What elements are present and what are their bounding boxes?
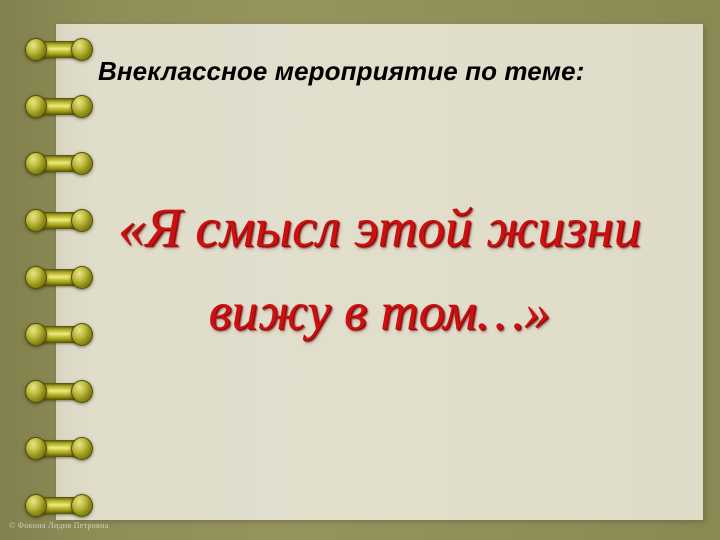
spiral-ring-6 <box>25 323 93 346</box>
spiral-ring-1 <box>25 38 93 61</box>
ring-cap-left-icon <box>25 380 47 403</box>
ring-cap-left-icon <box>25 209 47 232</box>
ring-cap-right-icon <box>71 380 93 403</box>
copyright-credit: © Фокина Лидия Петровна <box>9 521 109 531</box>
ring-cap-left-icon <box>25 437 47 460</box>
ring-cap-right-icon <box>71 209 93 232</box>
spiral-ring-3 <box>25 152 93 175</box>
spiral-ring-5 <box>25 266 93 289</box>
ring-cap-right-icon <box>71 494 93 517</box>
ring-cap-right-icon <box>71 323 93 346</box>
spiral-ring-8 <box>25 437 93 460</box>
spiral-ring-7 <box>25 380 93 403</box>
spiral-ring-4 <box>25 209 93 232</box>
spiral-ring-2 <box>25 95 93 118</box>
slide-quote: «Я смысл этой жизни вижу в том…» <box>56 186 703 354</box>
ring-cap-right-icon <box>71 95 93 118</box>
spiral-ring-9 <box>25 494 93 517</box>
ring-cap-left-icon <box>25 95 47 118</box>
ring-cap-right-icon <box>71 38 93 61</box>
ring-cap-left-icon <box>25 266 47 289</box>
slide-subtitle-heading: Внеклассное мероприятие по теме: <box>98 56 698 87</box>
ring-cap-left-icon <box>25 38 47 61</box>
ring-cap-left-icon <box>25 152 47 175</box>
ring-cap-right-icon <box>71 437 93 460</box>
presentation-slide: Внеклассное мероприятие по теме: «Я смыс… <box>0 0 720 540</box>
ring-cap-left-icon <box>25 494 47 517</box>
ring-cap-right-icon <box>71 152 93 175</box>
ring-cap-left-icon <box>25 323 47 346</box>
ring-cap-right-icon <box>71 266 93 289</box>
quote-line-1: «Я смысл этой жизни <box>56 186 703 270</box>
quote-line-2: вижу в том…» <box>56 270 703 354</box>
